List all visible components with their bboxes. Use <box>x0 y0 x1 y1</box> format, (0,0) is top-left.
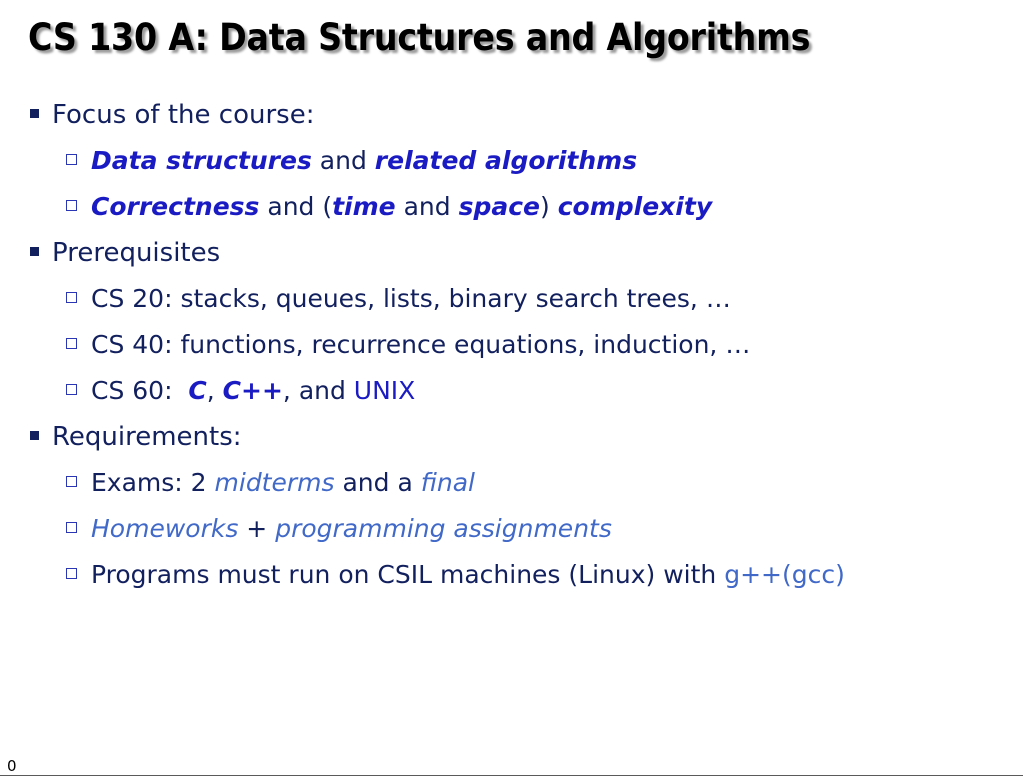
text-run: Homeworks <box>91 514 238 543</box>
hollow-square-bullet-icon <box>66 292 77 303</box>
bullet-text: Prerequisites <box>52 238 220 268</box>
text-run: C <box>188 376 206 405</box>
text-run: Correctness <box>91 192 259 221</box>
text-run: ) <box>540 192 558 221</box>
bullet-item-level2: Correctness and (time and space) complex… <box>0 192 1023 238</box>
bullet-item-level2: Exams: 2 midterms and a final <box>0 468 1023 514</box>
hollow-square-bullet-icon <box>66 200 77 211</box>
text-run: final <box>421 468 475 497</box>
bullet-item-level1: Requirements: <box>0 422 1023 468</box>
bullet-text: CS 20: stacks, queues, lists, binary sea… <box>91 284 731 313</box>
bullet-text: Homeworks + programming assignments <box>91 514 612 543</box>
text-run: Programs must run on CSIL machines (Linu… <box>91 560 724 589</box>
hollow-square-bullet-icon <box>66 338 77 349</box>
text-run: related algorithms <box>375 146 637 175</box>
text-run: Focus of the course: <box>52 100 314 130</box>
bullet-text: CS 40: functions, recurrence equations, … <box>91 330 750 359</box>
text-run: , <box>207 376 223 405</box>
bullet-text: CS 60: C, C++, and UNIX <box>91 376 415 405</box>
text-run: Requirements: <box>52 422 242 452</box>
hollow-square-bullet-icon <box>66 154 77 165</box>
filled-square-bullet-icon <box>30 247 39 256</box>
hollow-square-bullet-icon <box>66 476 77 487</box>
bullet-text: Exams: 2 midterms and a final <box>91 468 475 497</box>
bullet-text: Data structures and related algorithms <box>91 146 637 175</box>
text-run: and <box>396 192 459 221</box>
bullet-text: Programs must run on CSIL machines (Linu… <box>91 560 845 589</box>
filled-square-bullet-icon <box>30 431 39 440</box>
text-run: CS 20: stacks, queues, lists, binary sea… <box>91 284 731 313</box>
page-title: CS 130 A: Data Structures and Algorithms <box>28 18 988 59</box>
text-run: Exams: 2 <box>91 468 215 497</box>
text-run: C++ <box>223 376 283 405</box>
hollow-square-bullet-icon <box>66 384 77 395</box>
text-run: complexity <box>558 192 712 221</box>
bullet-item-level1: Focus of the course: <box>0 100 1023 146</box>
text-run: + <box>238 514 275 543</box>
text-run: CS 40: functions, recurrence equations, … <box>91 330 750 359</box>
slide-body-list: Focus of the course:Data structures and … <box>0 100 1023 606</box>
text-run: and <box>312 146 375 175</box>
text-run: UNIX <box>354 376 416 405</box>
page-number: 0 <box>7 757 17 775</box>
text-run: and a <box>335 468 421 497</box>
text-run: Data structures <box>91 146 312 175</box>
bullet-text: Correctness and (time and space) complex… <box>91 192 712 221</box>
text-run: programming assignments <box>275 514 612 543</box>
text-run: space <box>459 192 540 221</box>
text-run: midterms <box>215 468 335 497</box>
text-run: CS 60: <box>91 376 188 405</box>
bullet-item-level2: Homeworks + programming assignments <box>0 514 1023 560</box>
bullet-item-level2: Data structures and related algorithms <box>0 146 1023 192</box>
bullet-item-level2: Programs must run on CSIL machines (Linu… <box>0 560 1023 606</box>
filled-square-bullet-icon <box>30 109 39 118</box>
text-run: , and <box>283 376 354 405</box>
bullet-item-level2: CS 20: stacks, queues, lists, binary sea… <box>0 284 1023 330</box>
footer-divider <box>0 775 1023 776</box>
text-run: and ( <box>259 192 332 221</box>
hollow-square-bullet-icon <box>66 522 77 533</box>
bullet-text: Requirements: <box>52 422 242 452</box>
bullet-item-level1: Prerequisites <box>0 238 1023 284</box>
text-run: Prerequisites <box>52 238 220 268</box>
text-run: time <box>332 192 396 221</box>
bullet-text: Focus of the course: <box>52 100 314 130</box>
text-run: g++(gcc) <box>724 560 845 589</box>
hollow-square-bullet-icon <box>66 568 77 579</box>
bullet-item-level2: CS 60: C, C++, and UNIX <box>0 376 1023 422</box>
bullet-item-level2: CS 40: functions, recurrence equations, … <box>0 330 1023 376</box>
